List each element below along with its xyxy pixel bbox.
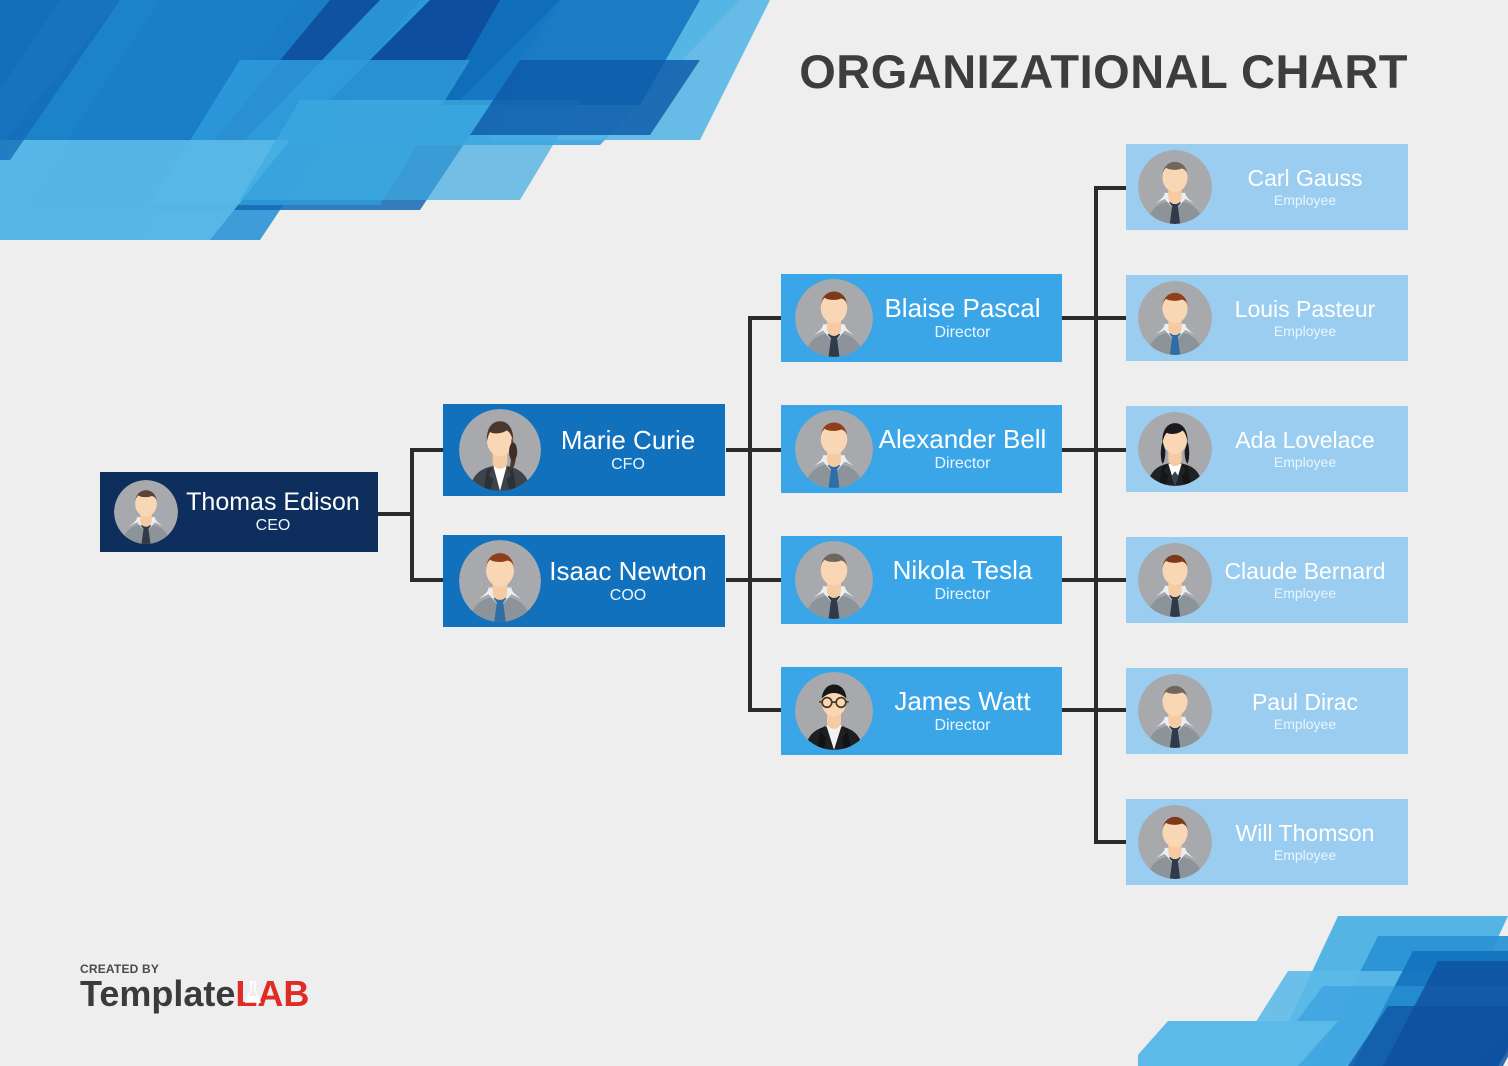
org-node-text: Alexander Bell Director	[873, 426, 1062, 473]
org-node-text: Marie Curie CFO	[541, 427, 725, 474]
person-role: Director	[934, 455, 990, 473]
org-node-text: Will Thomson Employee	[1212, 821, 1408, 864]
org-chart-canvas: ORGANIZATIONAL CHART	[0, 0, 1508, 1066]
org-node-text: James Watt Director	[873, 688, 1062, 735]
connector-to-cfo	[410, 448, 444, 452]
person-name: Claude Bernard	[1224, 559, 1385, 583]
person-role: Employee	[1274, 193, 1336, 208]
org-node-text: Isaac Newton COO	[541, 558, 725, 605]
person-role: Employee	[1274, 586, 1336, 601]
org-node-text: Ada Lovelace Employee	[1212, 428, 1408, 471]
connector-to-bell	[748, 448, 782, 452]
org-node-text: Paul Dirac Employee	[1212, 690, 1408, 733]
org-node-claude-bernard[interactable]: Claude Bernard Employee	[1126, 537, 1408, 623]
person-name: Nikola Tesla	[893, 557, 1033, 584]
person-role: Employee	[1274, 717, 1336, 732]
org-node-louis-pasteur[interactable]: Louis Pasteur Employee	[1126, 275, 1408, 361]
avatar	[1138, 543, 1212, 617]
person-role: Employee	[1274, 324, 1336, 339]
connector-to-dirac	[1094, 708, 1128, 712]
connector-director-bus	[748, 316, 752, 712]
org-node-isaac-newton[interactable]: Isaac Newton COO	[443, 535, 725, 627]
org-node-text: Nikola Tesla Director	[873, 557, 1062, 604]
person-role: Employee	[1274, 455, 1336, 470]
connector-to-tesla	[748, 578, 782, 582]
person-name: Isaac Newton	[549, 558, 707, 585]
connector-to-coo	[410, 578, 444, 582]
person-role: Employee	[1274, 848, 1336, 863]
avatar	[1138, 412, 1212, 486]
person-name: Blaise Pascal	[884, 295, 1040, 322]
person-name: Louis Pasteur	[1235, 297, 1376, 321]
brand-template-text: Template	[80, 976, 235, 1012]
org-node-thomas-edison[interactable]: Thomas Edison CEO	[100, 472, 378, 552]
connector-tesla-stub	[1062, 578, 1096, 582]
templatelab-logo: CREATED BY Template LAB	[80, 963, 309, 1012]
org-node-nikola-tesla[interactable]: Nikola Tesla Director	[781, 536, 1062, 624]
connector-to-thomson	[1094, 840, 1128, 844]
org-node-will-thomson[interactable]: Will Thomson Employee	[1126, 799, 1408, 885]
avatar	[1138, 281, 1212, 355]
org-node-text: Carl Gauss Employee	[1212, 166, 1408, 209]
connector-exec-bus	[410, 448, 414, 582]
person-name: Thomas Edison	[186, 489, 360, 515]
connector-to-lovelace	[1094, 448, 1128, 452]
avatar	[795, 672, 873, 750]
org-node-carl-gauss[interactable]: Carl Gauss Employee	[1126, 144, 1408, 230]
org-node-marie-curie[interactable]: Marie Curie CFO	[443, 404, 725, 496]
connector-to-pasteur	[1094, 316, 1128, 320]
org-node-paul-dirac[interactable]: Paul Dirac Employee	[1126, 668, 1408, 754]
org-node-james-watt[interactable]: James Watt Director	[781, 667, 1062, 755]
org-node-blaise-pascal[interactable]: Blaise Pascal Director	[781, 274, 1062, 362]
org-node-text: Thomas Edison CEO	[178, 489, 378, 535]
page-title: ORGANIZATIONAL CHART	[799, 44, 1408, 99]
avatar	[459, 540, 541, 622]
connector-watt-stub	[1062, 708, 1096, 712]
person-name: Paul Dirac	[1252, 690, 1358, 714]
org-node-ada-lovelace[interactable]: Ada Lovelace Employee	[1126, 406, 1408, 492]
avatar	[795, 410, 873, 488]
flask-icon	[243, 980, 263, 1006]
person-role: Director	[934, 324, 990, 342]
org-node-text: Louis Pasteur Employee	[1212, 297, 1408, 340]
connector-pascal-stub	[1062, 316, 1096, 320]
avatar	[795, 279, 873, 357]
person-name: Alexander Bell	[879, 426, 1047, 453]
connector-employee-bus	[1094, 186, 1098, 840]
person-role: Director	[934, 717, 990, 735]
org-node-text: Blaise Pascal Director	[873, 295, 1062, 342]
connector-to-bernard	[1094, 578, 1128, 582]
org-node-alexander-bell[interactable]: Alexander Bell Director	[781, 405, 1062, 493]
connector-to-gauss	[1094, 186, 1128, 190]
person-role: CFO	[611, 456, 645, 474]
connector-to-pascal	[748, 316, 782, 320]
person-role: CEO	[256, 517, 291, 535]
person-name: Ada Lovelace	[1235, 428, 1374, 452]
decorative-shapes-bottom-right	[1138, 916, 1508, 1066]
person-role: Director	[934, 586, 990, 604]
connector-to-watt	[748, 708, 782, 712]
connector-bell-stub	[1062, 448, 1096, 452]
person-name: Carl Gauss	[1247, 166, 1362, 190]
person-name: Marie Curie	[561, 427, 695, 454]
avatar	[114, 480, 178, 544]
avatar	[1138, 805, 1212, 879]
avatar	[459, 409, 541, 491]
decorative-shapes-top-left	[0, 0, 770, 240]
person-name: Will Thomson	[1236, 821, 1375, 845]
person-name: James Watt	[894, 688, 1030, 715]
avatar	[1138, 150, 1212, 224]
org-node-text: Claude Bernard Employee	[1212, 559, 1408, 602]
avatar	[1138, 674, 1212, 748]
person-role: COO	[610, 587, 646, 605]
connector-ceo-stub	[378, 512, 414, 516]
avatar	[795, 541, 873, 619]
